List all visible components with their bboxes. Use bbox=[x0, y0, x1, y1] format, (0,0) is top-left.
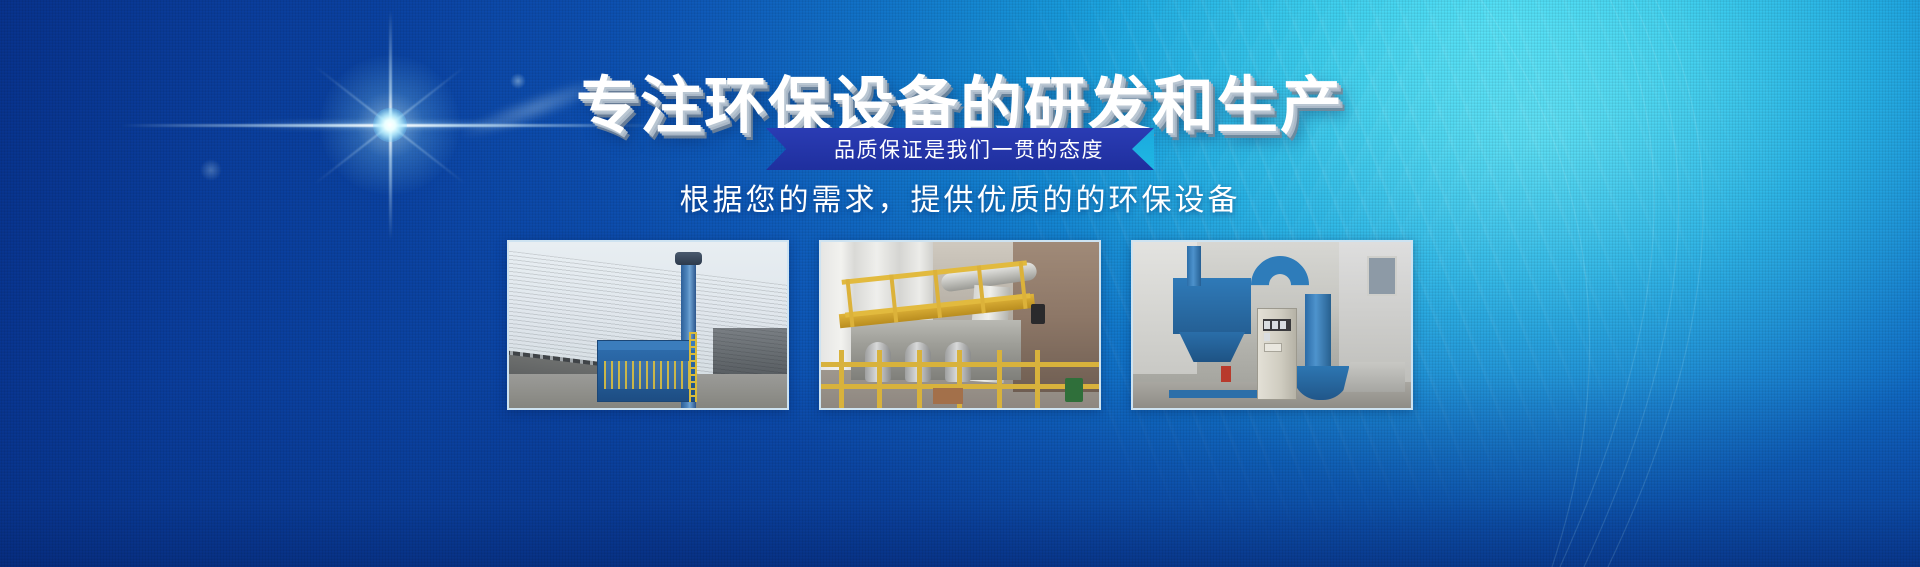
photo-platform-equipment[interactable] bbox=[819, 240, 1101, 410]
photo-cyclone-cabinet-image bbox=[1133, 242, 1411, 408]
page-subtitle: 根据您的需求，提供优质的的环保设备 bbox=[0, 175, 1920, 219]
photo-workshop-exterior[interactable] bbox=[507, 240, 789, 410]
ribbon-banner: 品质保证是我们一贯的态度 bbox=[0, 128, 1920, 170]
photo-workshop-exterior-image bbox=[509, 242, 787, 408]
photo-gallery bbox=[0, 240, 1920, 410]
ribbon-label: 品质保证是我们一贯的态度 bbox=[834, 134, 1104, 164]
ribbon-shape: 品质保证是我们一贯的态度 bbox=[766, 128, 1154, 170]
photo-cyclone-cabinet[interactable] bbox=[1131, 240, 1413, 410]
ribbon-right-notch bbox=[1132, 128, 1154, 170]
photo-platform-equipment-image bbox=[821, 242, 1099, 408]
hero-banner: 专注环保设备的研发和生产 品质保证是我们一贯的态度 根据您的需求，提供优质的的环… bbox=[0, 0, 1920, 567]
